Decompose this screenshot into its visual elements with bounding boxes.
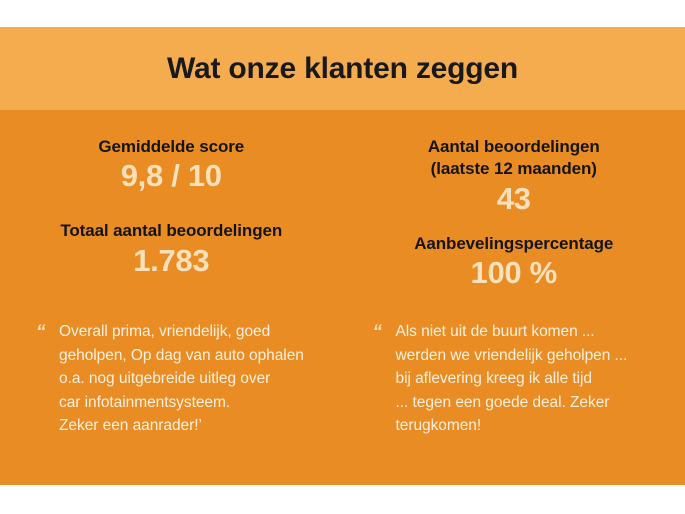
stat-label: Totaal aantal beoordelingen <box>14 220 329 242</box>
page-title: Wat onze klanten zeggen <box>147 54 538 84</box>
testimonial-item: “ Als niet uit de buurt komen ... werden… <box>343 320 685 438</box>
reviews-card: Wat onze klanten zeggen Gemiddelde score… <box>0 27 685 485</box>
stat-label: Aantal beoordelingen (laatste 12 maanden… <box>357 136 672 181</box>
stat-recommendation-percentage: Aanbevelingspercentage 100 % <box>357 233 672 291</box>
stats-section: Gemiddelde score 9,8 / 10 Totaal aantal … <box>0 110 685 291</box>
stat-average-score: Gemiddelde score 9,8 / 10 <box>14 136 329 194</box>
stat-reviews-last-12-months: Aantal beoordelingen (laatste 12 maanden… <box>357 136 672 217</box>
testimonial-text: Als niet uit de buurt komen ... werden w… <box>396 320 674 438</box>
stat-value: 1.783 <box>14 244 329 279</box>
stat-label: Gemiddelde score <box>14 136 329 158</box>
stat-value: 100 % <box>357 256 672 291</box>
quote-mark-icon: “ <box>373 323 391 342</box>
stat-value: 9,8 / 10 <box>14 159 329 194</box>
stat-value: 43 <box>357 182 672 217</box>
stat-label: Aanbevelingspercentage <box>357 233 672 255</box>
stats-column-right: Aantal beoordelingen (laatste 12 maanden… <box>343 110 685 291</box>
quote-mark-icon: “ <box>36 323 54 342</box>
bottom-white-strip <box>0 485 685 514</box>
testimonial-text: Overall prima, vriendelijk, goed geholpe… <box>59 320 331 438</box>
stat-total-reviews: Totaal aantal beoordelingen 1.783 <box>14 220 329 278</box>
stats-column-left: Gemiddelde score 9,8 / 10 Totaal aantal … <box>0 110 343 291</box>
card-header: Wat onze klanten zeggen <box>0 27 685 110</box>
testimonials-section: “ Overall prima, vriendelijk, goed gehol… <box>0 320 685 438</box>
testimonial-item: “ Overall prima, vriendelijk, goed gehol… <box>0 320 343 438</box>
top-white-strip <box>0 0 685 27</box>
